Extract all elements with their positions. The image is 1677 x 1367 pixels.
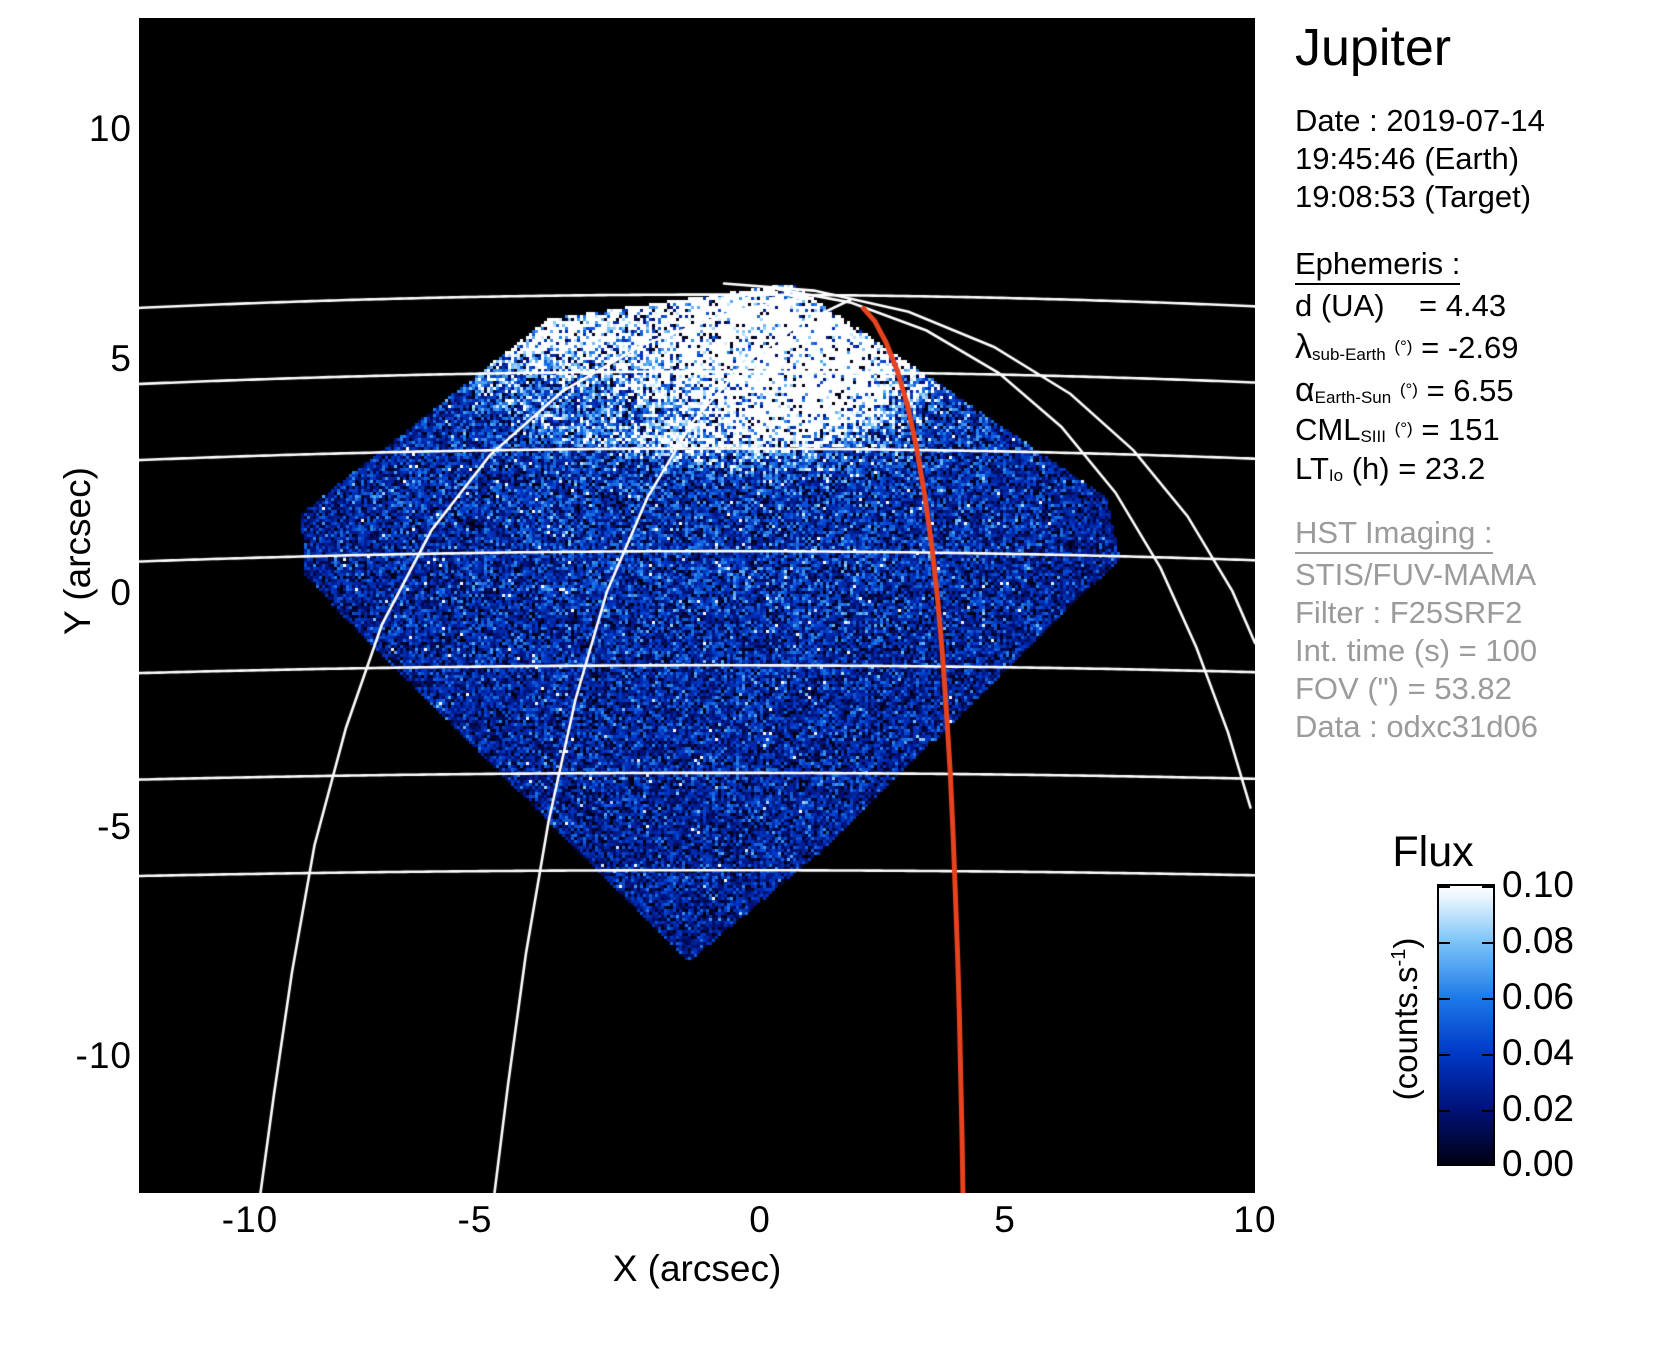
y-tick-5: 5: [12, 338, 132, 380]
field-of-view: FOV (") = 53.82: [1295, 670, 1677, 708]
ephemeris-heading: Ephemeris :: [1295, 246, 1460, 285]
x-tick-5: 5: [935, 1199, 1075, 1241]
y-tick-minus5: -5: [12, 806, 132, 848]
ephemeris-cml: CMLSIII (°) = 151: [1295, 411, 1677, 450]
jupiter-aurora-canvas: [139, 18, 1255, 1193]
cml-label: CML: [1295, 412, 1360, 447]
colorbar-tick-002: 0.02: [1502, 1088, 1574, 1130]
alpha-value: = 6.55: [1427, 373, 1514, 408]
date-block: Date : 2019-07-14 19:45:46 (Earth) 19:08…: [1295, 102, 1677, 216]
colorbar-unit-label: (counts.s-1): [1387, 894, 1425, 1144]
x-tick-minus5: -5: [405, 1199, 545, 1241]
x-axis-label: X (arcsec): [537, 1248, 857, 1290]
cml-subscript: SIII: [1360, 427, 1386, 446]
distance-value: = 4.43: [1419, 288, 1506, 323]
colorbar-tick-010: 0.10: [1502, 864, 1574, 906]
colorbar-tick-000: 0.00: [1502, 1143, 1574, 1185]
lambda-subscript: sub-Earth: [1312, 345, 1386, 364]
x-tick-minus10: -10: [180, 1199, 320, 1241]
alpha-degree-unit: (°): [1400, 380, 1418, 399]
colorbar-tick-004: 0.04: [1502, 1032, 1574, 1074]
instrument-name: STIS/FUV-MAMA: [1295, 556, 1677, 594]
cml-value: = 151: [1421, 412, 1499, 447]
colorbar-unit-suffix: ): [1387, 938, 1424, 949]
alpha-symbol: α: [1295, 371, 1315, 409]
earth-time: 19:45:46 (Earth): [1295, 140, 1677, 178]
hst-imaging-block: HST Imaging : STIS/FUV-MAMA Filter : F25…: [1295, 515, 1677, 747]
ephemeris-io-local-time: LTIo (h) = 23.2: [1295, 450, 1677, 489]
y-tick-10: 10: [12, 108, 132, 150]
ephemeris-block: Ephemeris : d (UA) = 4.43 λsub-Earth (°)…: [1295, 246, 1677, 488]
colorbar-tick-008: 0.08: [1502, 920, 1574, 962]
flux-colorbar: [1437, 884, 1495, 1166]
aurora-image-plot: [139, 18, 1255, 1193]
page-title: Jupiter: [1295, 0, 1677, 74]
lambda-symbol: λ: [1295, 328, 1312, 366]
cml-degree-unit: (°): [1395, 419, 1413, 438]
x-tick-0: 0: [690, 1199, 830, 1241]
lt-unit: (h): [1352, 451, 1390, 486]
lt-subscript: Io: [1329, 466, 1343, 485]
colorbar-unit-prefix: (counts.s: [1387, 966, 1424, 1100]
colorbar-tick-006: 0.06: [1502, 976, 1574, 1018]
filter-name: Filter : F25SRF2: [1295, 594, 1677, 632]
lt-value: = 23.2: [1398, 451, 1485, 486]
ephemeris-sub-earth-latitude: λsub-Earth (°) = -2.69: [1295, 326, 1677, 369]
lt-label: LT: [1295, 451, 1329, 486]
y-axis-label: Y (arcsec): [57, 421, 99, 681]
lambda-value: = -2.69: [1421, 330, 1518, 365]
colorbar-unit-exponent: -1: [1388, 949, 1410, 967]
ephemeris-phase-angle: αEarth-Sun (°) = 6.55: [1295, 369, 1677, 412]
lambda-degree-unit: (°): [1394, 337, 1412, 356]
ephemeris-distance: d (UA) = 4.43: [1295, 287, 1677, 326]
integration-time: Int. time (s) = 100: [1295, 632, 1677, 670]
y-tick-minus10: -10: [12, 1035, 132, 1077]
target-time: 19:08:53 (Target): [1295, 178, 1677, 216]
observation-date: Date : 2019-07-14: [1295, 102, 1677, 140]
distance-label: d (UA): [1295, 288, 1385, 323]
data-id: Data : odxc31d06: [1295, 708, 1677, 746]
hst-imaging-heading: HST Imaging :: [1295, 515, 1493, 554]
alpha-subscript: Earth-Sun: [1315, 388, 1392, 407]
